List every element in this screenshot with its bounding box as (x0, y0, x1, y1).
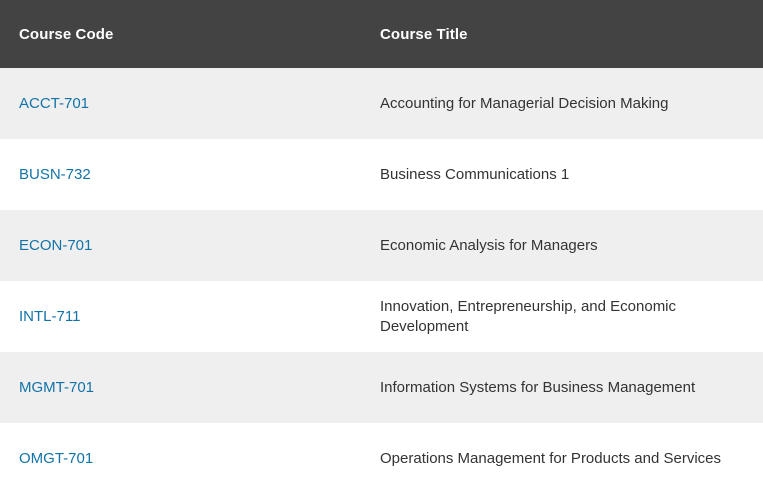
table-body: ACCT-701 Accounting for Managerial Decis… (0, 68, 763, 493)
table-row: INTL-711 Innovation, Entrepreneurship, a… (0, 281, 763, 352)
cell-course-title: Business Communications 1 (190, 139, 763, 210)
table-header: Course Code Course Title (0, 0, 763, 68)
course-code-link[interactable]: BUSN-732 (19, 166, 91, 183)
table-row: MGMT-701 Information Systems for Busines… (0, 352, 763, 423)
table-row: OMGT-701 Operations Management for Produ… (0, 423, 763, 493)
course-code-link[interactable]: MGMT-701 (19, 379, 94, 396)
cell-course-title: Innovation, Entrepreneurship, and Econom… (190, 281, 763, 352)
cell-course-title: Accounting for Managerial Decision Makin… (190, 68, 763, 139)
cell-course-title: Economic Analysis for Managers (190, 210, 763, 281)
cell-course-code: ECON-701 (0, 210, 190, 281)
column-header-course-code[interactable]: Course Code (0, 0, 190, 68)
cell-course-code: MGMT-701 (0, 352, 190, 423)
course-code-link[interactable]: ECON-701 (19, 237, 92, 254)
column-header-course-title[interactable]: Course Title (190, 0, 763, 68)
course-code-link[interactable]: INTL-711 (19, 308, 80, 325)
cell-course-code: OMGT-701 (0, 423, 190, 493)
cell-course-code: ACCT-701 (0, 68, 190, 139)
cell-course-title: Information Systems for Business Managem… (190, 352, 763, 423)
table-header-row: Course Code Course Title (0, 0, 763, 68)
cell-course-code: INTL-711 (0, 281, 190, 352)
course-table: Course Code Course Title ACCT-701 Accoun… (0, 0, 763, 493)
cell-course-code: BUSN-732 (0, 139, 190, 210)
cell-course-title: Operations Management for Products and S… (190, 423, 763, 493)
course-code-link[interactable]: ACCT-701 (19, 95, 89, 112)
table-row: ECON-701 Economic Analysis for Managers (0, 210, 763, 281)
table-row: BUSN-732 Business Communications 1 (0, 139, 763, 210)
table-row: ACCT-701 Accounting for Managerial Decis… (0, 68, 763, 139)
course-code-link[interactable]: OMGT-701 (19, 450, 93, 467)
